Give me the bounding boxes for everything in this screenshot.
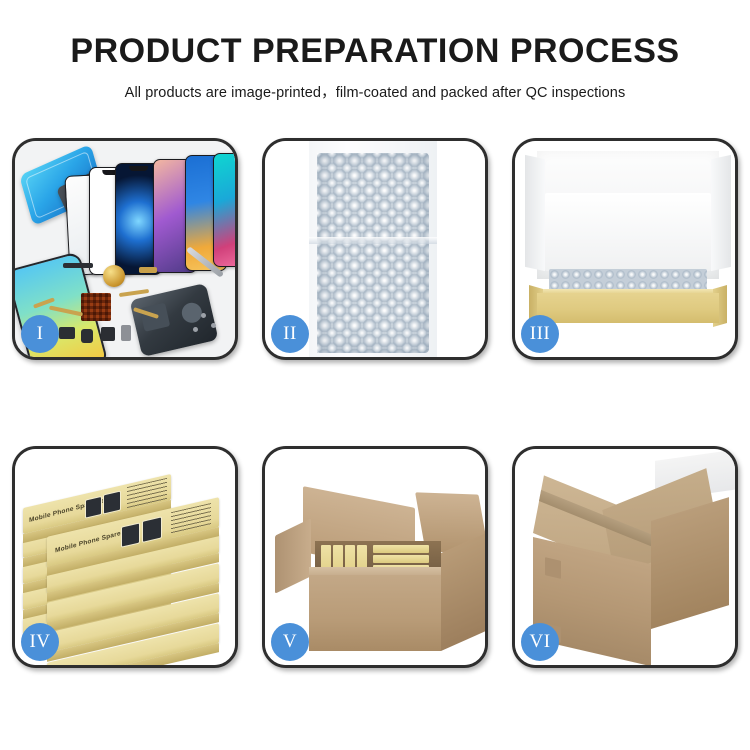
yellow-box-icon: [373, 555, 429, 563]
phone-print-icon: [142, 516, 162, 543]
component-icon: [63, 263, 93, 268]
infographic-page: PRODUCT PREPARATION PROCESS All products…: [0, 0, 750, 750]
component-icon: [101, 327, 115, 341]
page-title: PRODUCT PREPARATION PROCESS: [0, 34, 750, 68]
component-icon: [121, 325, 131, 341]
step-card-1: I: [12, 138, 238, 360]
notch-icon: [129, 166, 149, 171]
step-card-3: III: [512, 138, 738, 360]
step-badge-5: V: [271, 623, 309, 661]
phone-print-icon: [85, 496, 102, 519]
yellow-box-icon: [537, 293, 719, 323]
foam-insert-icon: [545, 193, 711, 271]
carton-side-panel: [651, 497, 729, 629]
step-card-4: Mobile Phone Spare Parts Mobile Phone Sp…: [12, 446, 238, 668]
connector-grid-icon: [81, 293, 111, 321]
yellow-box-icon: [373, 545, 429, 553]
screw-icon: [193, 327, 198, 332]
step-badge-2: II: [271, 315, 309, 353]
wrap-seam: [309, 237, 437, 244]
phone-print-icon: [103, 490, 121, 514]
speaker-coil-icon: [103, 265, 125, 287]
carton-tab: [545, 557, 561, 579]
step-badge-4: IV: [21, 623, 59, 661]
component-icon: [59, 327, 75, 339]
screw-icon: [201, 313, 206, 318]
bubble-wrap-icon: [317, 153, 429, 353]
step-badge-1: I: [21, 315, 59, 353]
step-card-2: II: [262, 138, 488, 360]
carton-front-panel: [309, 575, 441, 651]
carton-side-panel: [441, 533, 485, 651]
process-steps-grid: I II III: [12, 138, 738, 668]
header: PRODUCT PREPARATION PROCESS All products…: [0, 0, 750, 102]
step-badge-3: III: [521, 315, 559, 353]
phone-screen-icon: [213, 153, 235, 267]
component-icon: [81, 329, 93, 343]
phone-chassis-icon: [129, 283, 218, 357]
phone-print-icon: [121, 522, 140, 547]
component-icon: [139, 267, 157, 273]
carton-flap-left: [275, 518, 311, 594]
step-card-5: V: [262, 446, 488, 668]
step-badge-6: VI: [521, 623, 559, 661]
step-card-6: VI: [512, 446, 738, 668]
screw-icon: [211, 323, 216, 328]
phone-screen-fan: [67, 153, 235, 278]
page-subtitle: All products are image-printed，film-coat…: [0, 81, 750, 102]
